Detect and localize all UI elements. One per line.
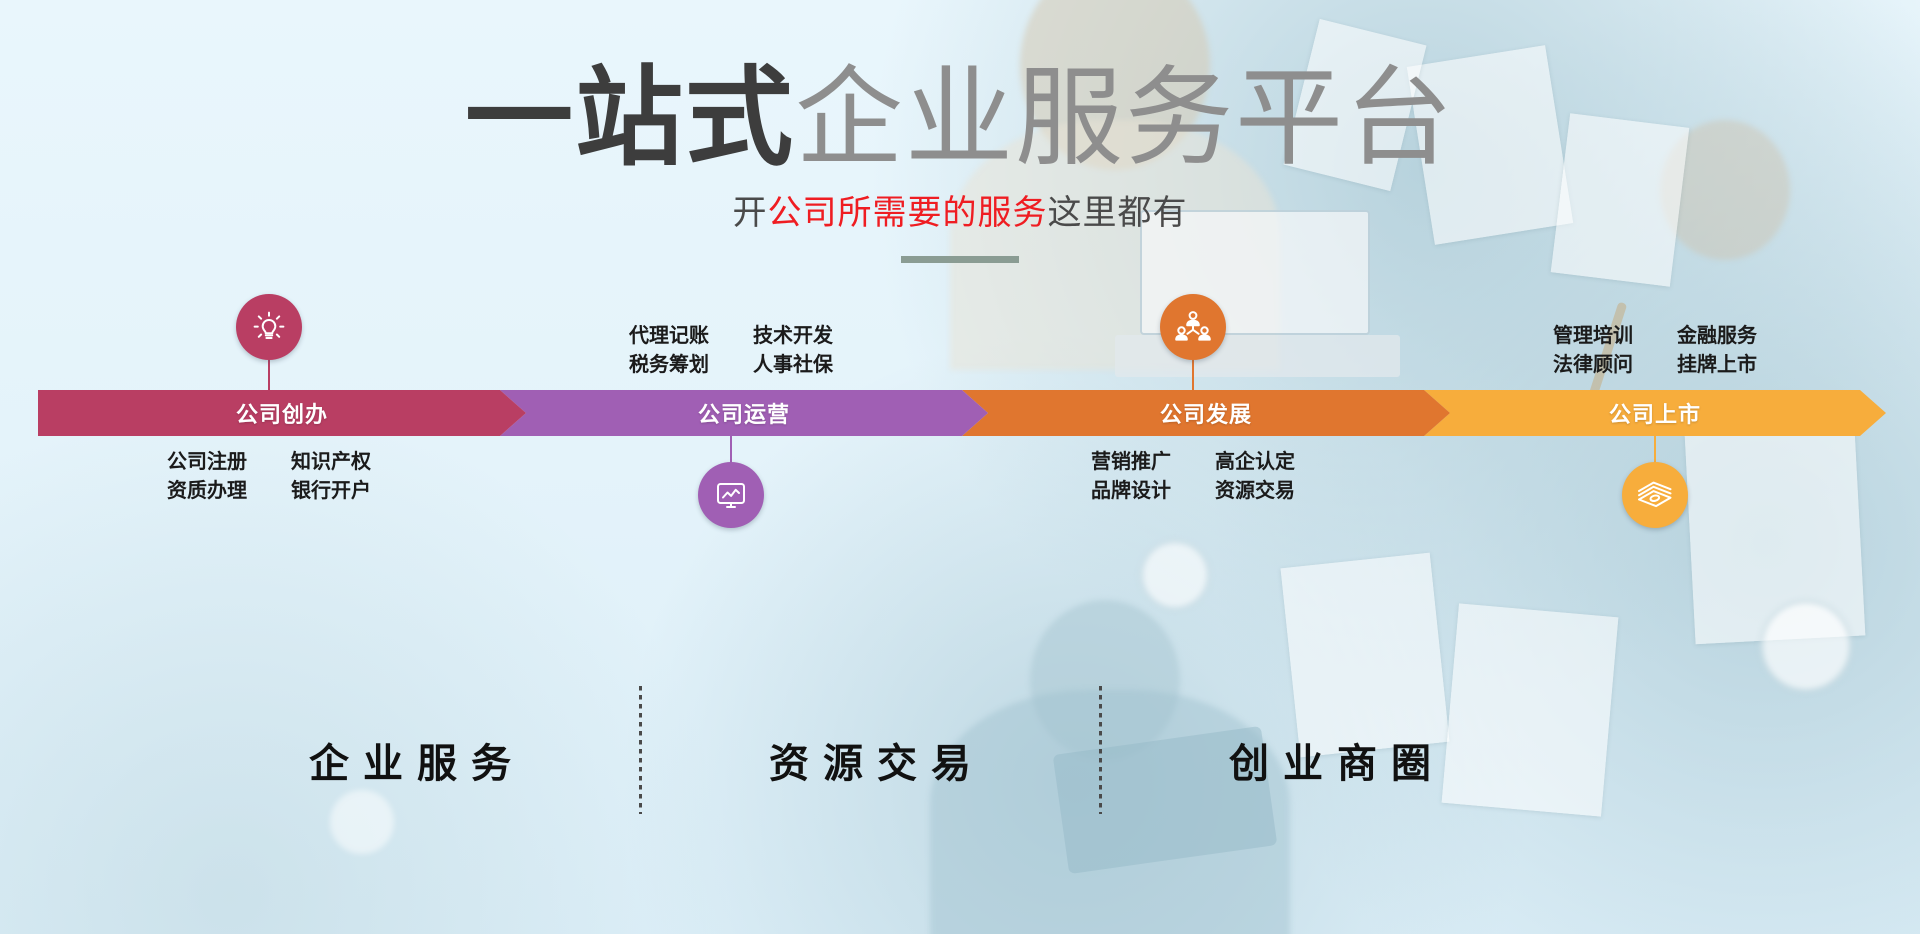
timeline-icon-node-3[interactable] [1160, 294, 1226, 360]
lightbulb-icon [236, 294, 302, 360]
timeline-stage-4[interactable]: 公司上市 [1424, 390, 1886, 436]
timeline-tag-item[interactable]: 金融服务 [1677, 322, 1757, 351]
money-stack-icon [1622, 462, 1688, 528]
timeline-tags-2: 代理记账税务筹划技术开发人事社保 [591, 322, 871, 380]
timeline: 公司创办公司运营公司发展公司上市 公司注册资质办理知识产权银行开户 代理记账税务… [0, 300, 1920, 630]
subtitle-prefix: 开 [733, 194, 768, 232]
page-title-secondary: 企业服务平台 [795, 57, 1455, 178]
category-label: 创业商圈 [1215, 731, 1445, 789]
category-label: 资源交易 [755, 731, 985, 789]
timeline-stage-1[interactable]: 公司创办 [38, 390, 526, 436]
timeline-tag-item[interactable]: 代理记账 [629, 322, 709, 351]
timeline-tag-item[interactable]: 品牌设计 [1091, 477, 1171, 506]
timeline-tag-column[interactable]: 公司注册资质办理 [167, 448, 247, 506]
page-subtitle: 开公司所需要的服务这里都有 [0, 185, 1920, 234]
people-network-icon [1160, 294, 1226, 360]
timeline-tag-column[interactable]: 营销推广品牌设计 [1091, 448, 1171, 506]
category-item-1[interactable]: 企业服务 [180, 700, 640, 820]
category-item-3[interactable]: 创业商圈 [1100, 700, 1560, 820]
page-header: 一站式企业服务平台 开公司所需要的服务这里都有 [0, 58, 1920, 263]
timeline-tag-item[interactable]: 公司注册 [167, 448, 247, 477]
timeline-icon-node-2[interactable] [698, 462, 764, 528]
category-row: 企业服务资源交易创业商圈 [0, 700, 1920, 820]
category-label: 企业服务 [295, 731, 525, 789]
timeline-tag-column[interactable]: 金融服务挂牌上市 [1677, 322, 1757, 380]
timeline-arrow-band: 公司创办公司运营公司发展公司上市 [38, 390, 1886, 436]
timeline-tag-item[interactable]: 知识产权 [291, 448, 371, 477]
subtitle-accent: 公司所需要的服务 [768, 194, 1048, 232]
timeline-tag-item[interactable]: 挂牌上市 [1677, 351, 1757, 380]
timeline-icon-node-1[interactable] [236, 294, 302, 360]
timeline-stage-label: 公司上市 [1609, 397, 1701, 429]
timeline-tag-item[interactable]: 资源交易 [1215, 477, 1295, 506]
timeline-stage-label: 公司发展 [1160, 397, 1252, 429]
page-title-primary: 一站式 [465, 57, 795, 178]
timeline-tag-column[interactable]: 代理记账税务筹划 [629, 322, 709, 380]
subtitle-suffix: 这里都有 [1048, 194, 1188, 232]
timeline-stem-3 [1192, 360, 1194, 392]
timeline-tag-item[interactable]: 营销推广 [1091, 448, 1171, 477]
timeline-tag-item[interactable]: 高企认定 [1215, 448, 1295, 477]
timeline-tag-item[interactable]: 资质办理 [167, 477, 247, 506]
page-title: 一站式企业服务平台 [0, 58, 1920, 179]
timeline-tag-column[interactable]: 管理培训法律顾问 [1553, 322, 1633, 380]
timeline-stage-label: 公司运营 [698, 397, 790, 429]
category-item-2[interactable]: 资源交易 [640, 700, 1100, 820]
timeline-stage-label: 公司创办 [236, 397, 328, 429]
title-underline-rule [901, 256, 1019, 263]
timeline-tags-3: 营销推广品牌设计高企认定资源交易 [1053, 448, 1333, 506]
timeline-tag-item[interactable]: 银行开户 [291, 477, 371, 506]
monitor-chart-icon [698, 462, 764, 528]
timeline-tag-item[interactable]: 税务筹划 [629, 351, 709, 380]
timeline-tag-column[interactable]: 知识产权银行开户 [291, 448, 371, 506]
timeline-tag-item[interactable]: 管理培训 [1553, 322, 1633, 351]
timeline-icon-node-4[interactable] [1622, 462, 1688, 528]
timeline-tag-item[interactable]: 技术开发 [753, 322, 833, 351]
timeline-stage-2[interactable]: 公司运营 [500, 390, 988, 436]
timeline-tags-4: 管理培训法律顾问金融服务挂牌上市 [1515, 322, 1795, 380]
timeline-stem-1 [268, 360, 270, 392]
timeline-tag-item[interactable]: 法律顾问 [1553, 351, 1633, 380]
timeline-stage-3[interactable]: 公司发展 [962, 390, 1450, 436]
timeline-tags-1: 公司注册资质办理知识产权银行开户 [129, 448, 409, 506]
timeline-tag-column[interactable]: 技术开发人事社保 [753, 322, 833, 380]
timeline-tag-column[interactable]: 高企认定资源交易 [1215, 448, 1295, 506]
timeline-tag-item[interactable]: 人事社保 [753, 351, 833, 380]
